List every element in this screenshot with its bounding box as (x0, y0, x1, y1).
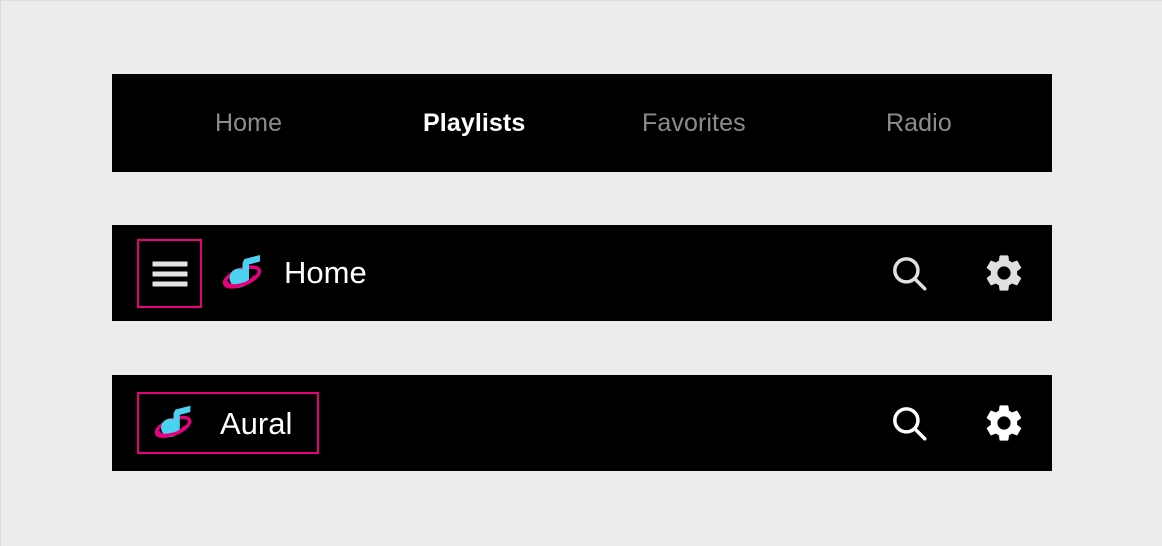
hamburger-menu-icon (152, 261, 187, 286)
app-bar-aural: Aural (112, 375, 1052, 471)
page-title: Home (284, 225, 367, 321)
search-icon[interactable] (888, 252, 930, 294)
aural-music-note-logo (151, 398, 199, 448)
gear-icon[interactable] (982, 251, 1026, 295)
app-bar-home: Home (112, 225, 1052, 321)
brand-button[interactable]: Aural (137, 392, 319, 454)
tab-home[interactable]: Home (215, 74, 282, 172)
tab-bar: Home Playlists Favorites Radio (112, 74, 1052, 172)
gear-icon[interactable] (982, 401, 1026, 445)
tab-radio[interactable]: Radio (886, 74, 952, 172)
search-icon[interactable] (888, 402, 930, 444)
tab-playlists[interactable]: Playlists (423, 74, 525, 172)
brand-title: Aural (220, 408, 292, 439)
menu-button[interactable] (137, 239, 202, 308)
tab-favorites[interactable]: Favorites (642, 74, 746, 172)
aural-music-note-logo (219, 247, 269, 299)
